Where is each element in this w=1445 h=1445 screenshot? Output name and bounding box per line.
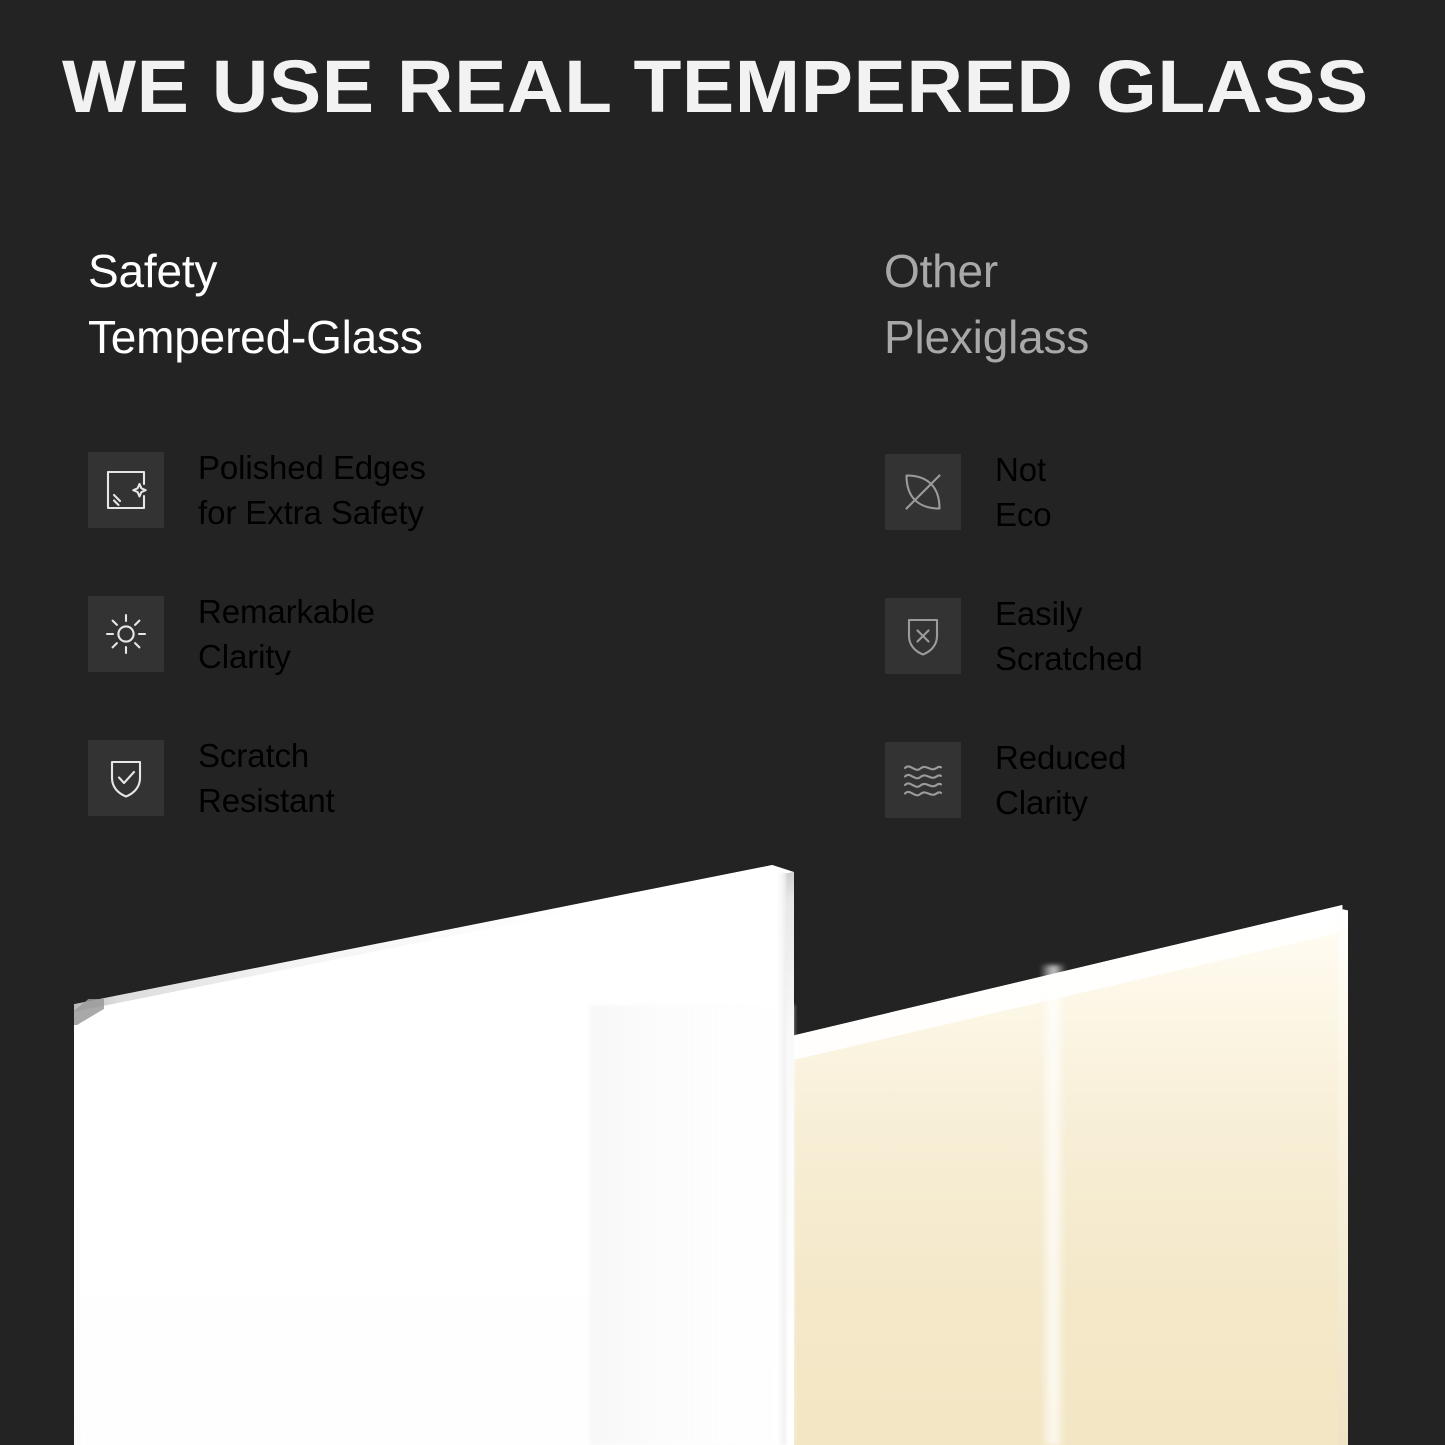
feature-label: Not Eco [995,447,1052,537]
feature-not-eco: Not Eco [885,452,1143,532]
feature-polished-edges: Polished Edges for Extra Safety [88,450,426,530]
page-title: WE USE REAL TEMPERED GLASS [62,42,1445,132]
polished-glass-sparkle-icon [88,452,164,528]
column-plexiglass: Other Plexiglass [884,238,1404,370]
feature-easily-scratched: Easily Scratched [885,596,1143,676]
shield-check-icon [88,740,164,816]
tempered-glass-edge-highlight [770,872,786,1445]
feature-remarkable-clarity: Remarkable Clarity [88,594,426,674]
column-tempered-glass: Safety Tempered-Glass [88,238,788,370]
feature-reduced-clarity: Reduced Clarity [885,740,1143,820]
column-heading-right: Other Plexiglass [884,238,1404,370]
column-heading-left: Safety Tempered-Glass [88,238,788,370]
feature-label: Easily Scratched [995,591,1143,681]
shield-x-icon [885,598,961,674]
feature-label: Scratch Resistant [198,733,335,823]
feature-scratch-resistant: Scratch Resistant [88,738,426,818]
feature-list-left: Polished Edges for Extra Safety Remarkab… [88,450,426,818]
tempered-glass-reflection [590,1005,795,1445]
feature-label: Reduced Clarity [995,735,1126,825]
feature-label: Remarkable Clarity [198,589,375,679]
wavy-lines-icon [885,742,961,818]
feature-label: Polished Edges for Extra Safety [198,445,426,535]
infographic-page: WE USE REAL TEMPERED GLASS Safety Temper… [0,0,1445,1445]
leaf-crossed-out-icon [885,454,961,530]
sun-clarity-icon [88,596,164,672]
feature-list-right: Not Eco Easily Scratched [885,452,1143,820]
product-panels [0,845,1445,1445]
plexiglass-reflection [1040,965,1066,1445]
